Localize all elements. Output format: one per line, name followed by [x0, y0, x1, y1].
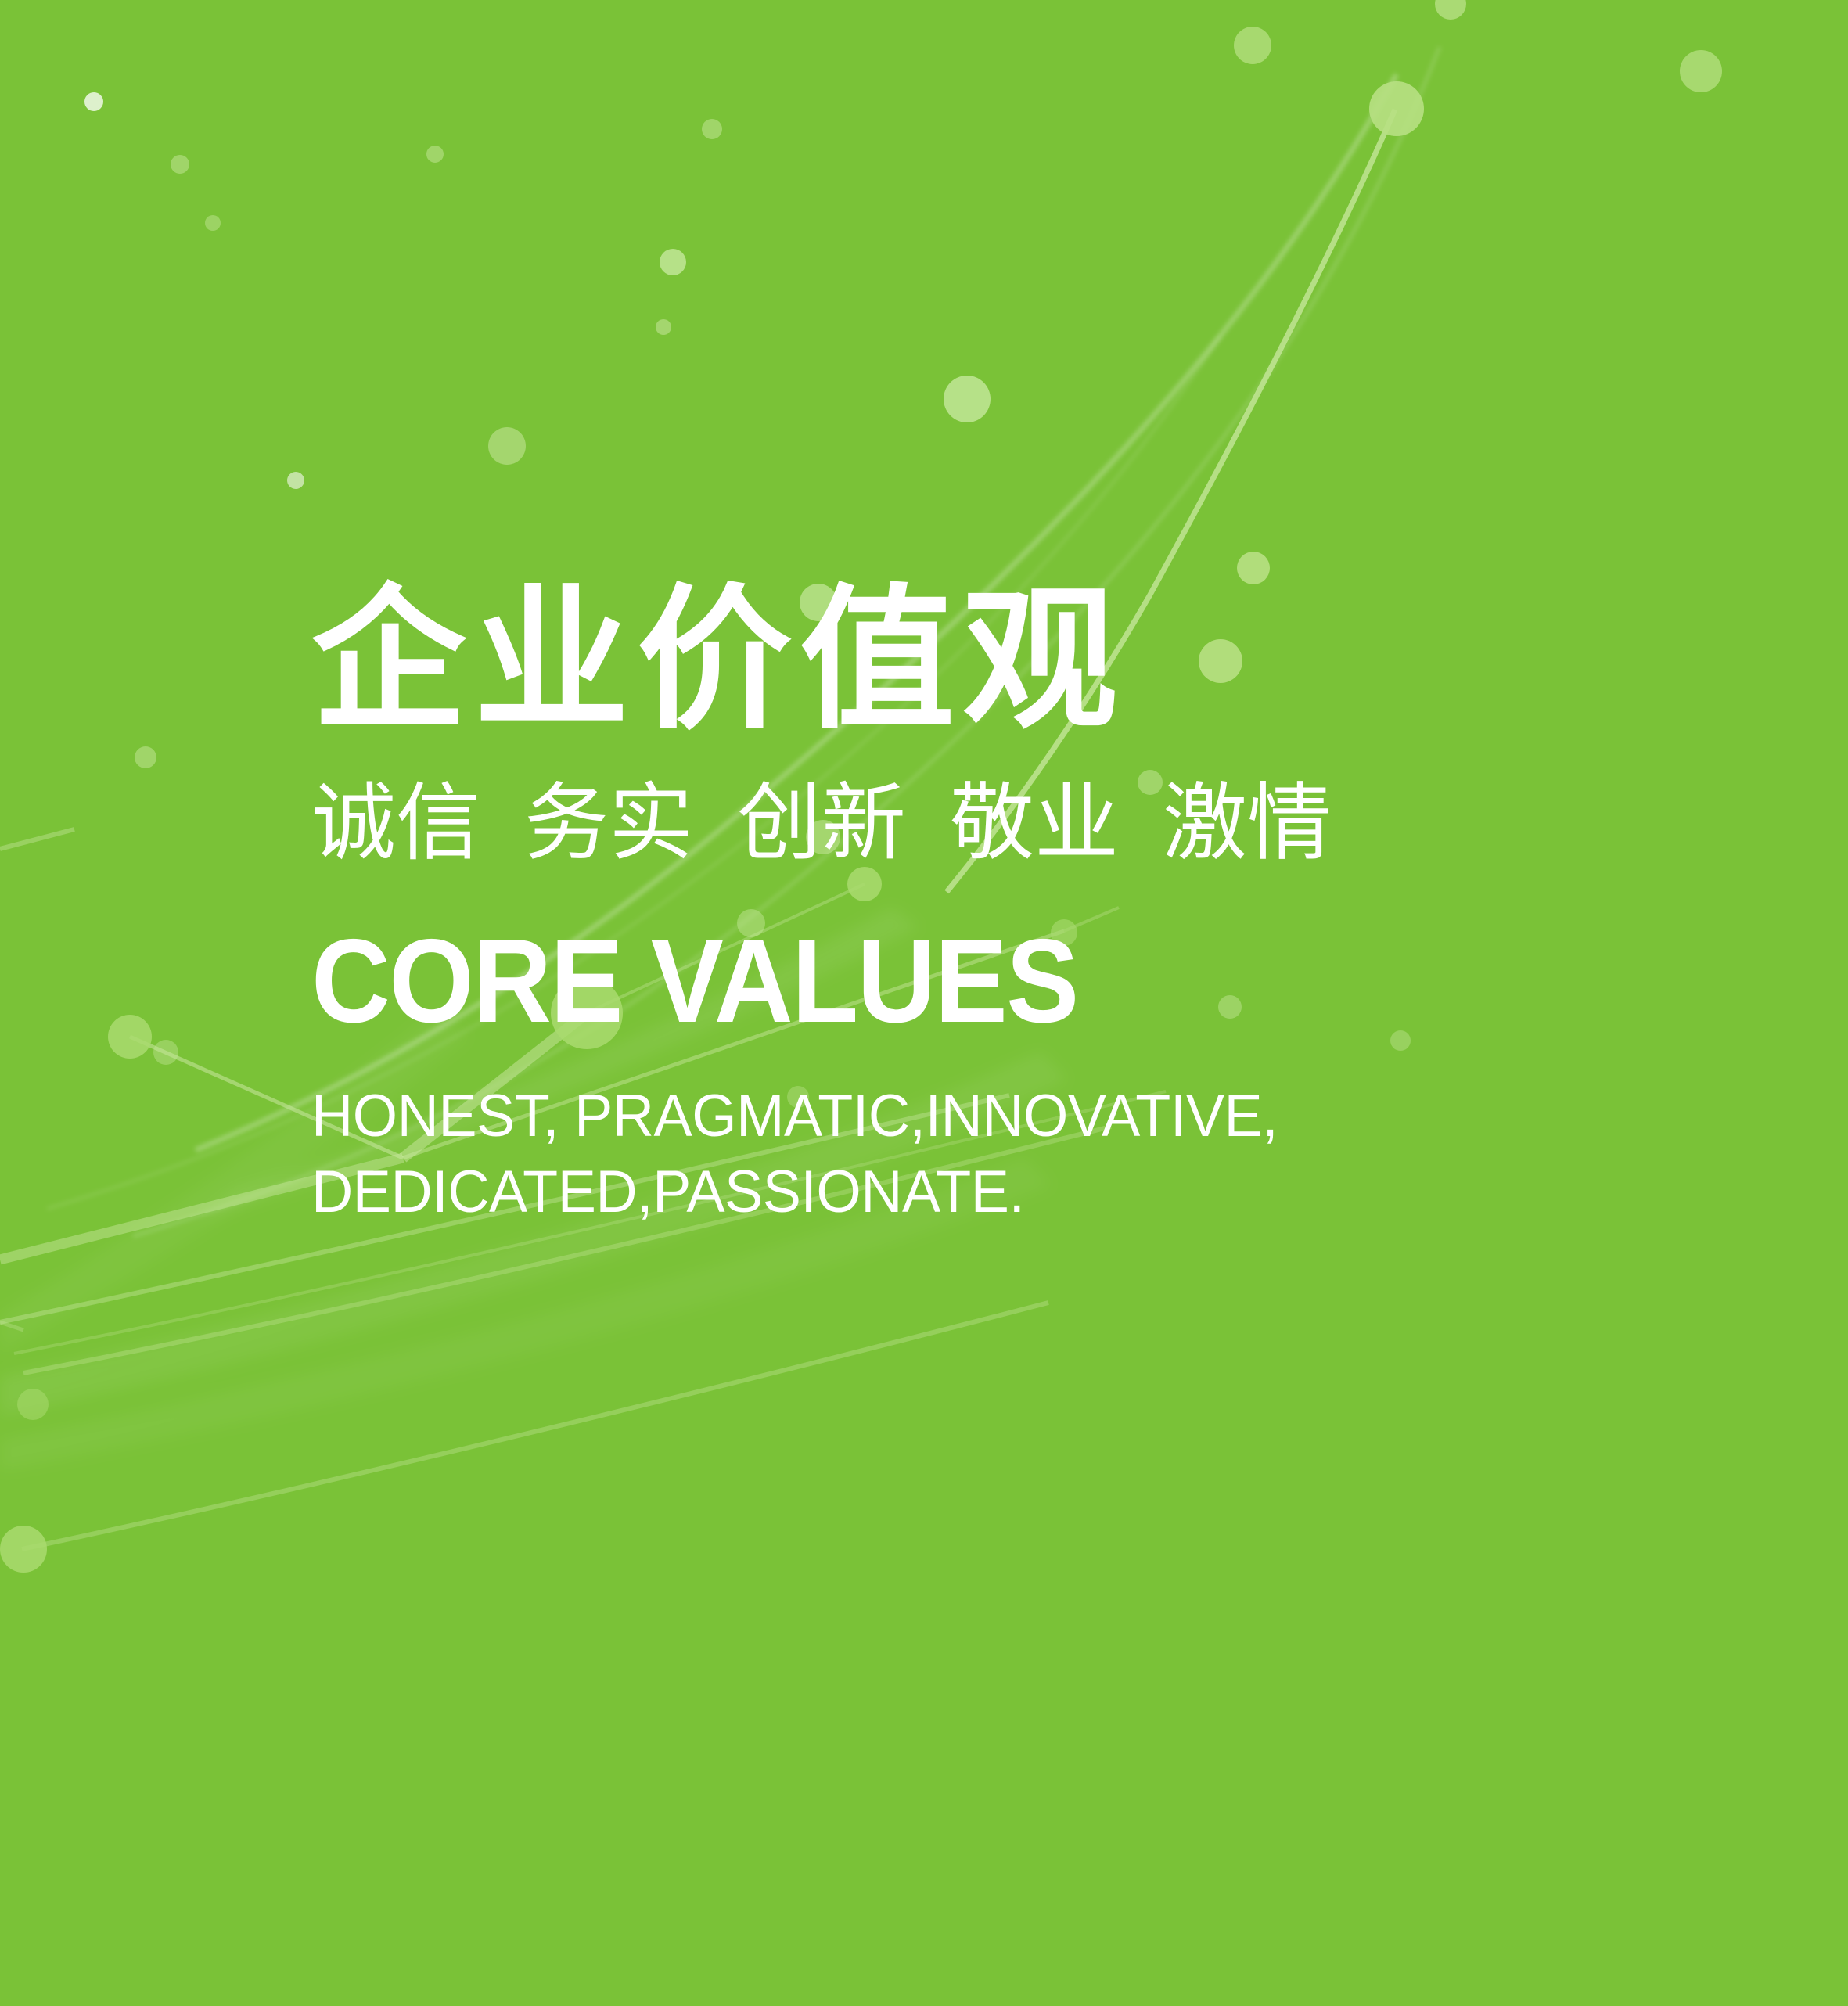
chinese-subtitle-item-1: 务实	[524, 775, 693, 870]
chinese-subtitle-item-2: 创新	[737, 775, 906, 870]
english-description-line-2: DEDICATED,PASSIONATE.	[311, 1154, 1677, 1230]
chinese-subtitle: 诚信务实创新敬业激情	[311, 738, 1720, 865]
headline-block: 企业价值观 诚信务实创新敬业激情 CORE VALUES HONEST, PRA…	[311, 583, 1720, 1231]
chinese-subtitle-item-3: 敬业	[950, 775, 1119, 870]
network-nodes-right	[1199, 0, 1722, 683]
english-title: CORE VALUES	[311, 865, 1607, 1041]
chinese-subtitle-item-0: 诚信	[311, 775, 480, 870]
english-description: HONEST, PRAGMATIC,INNOVATIVE, DEDICATED,…	[311, 1041, 1720, 1231]
chinese-subtitle-item-4: 激情	[1163, 775, 1332, 870]
chinese-title: 企业价值观	[311, 583, 1720, 738]
core-values-poster: 企业价值观 诚信务实创新敬业激情 CORE VALUES HONEST, PRA…	[0, 0, 1848, 2006]
english-description-line-1: HONEST, PRAGMATIC,INNOVATIVE,	[311, 1078, 1677, 1154]
